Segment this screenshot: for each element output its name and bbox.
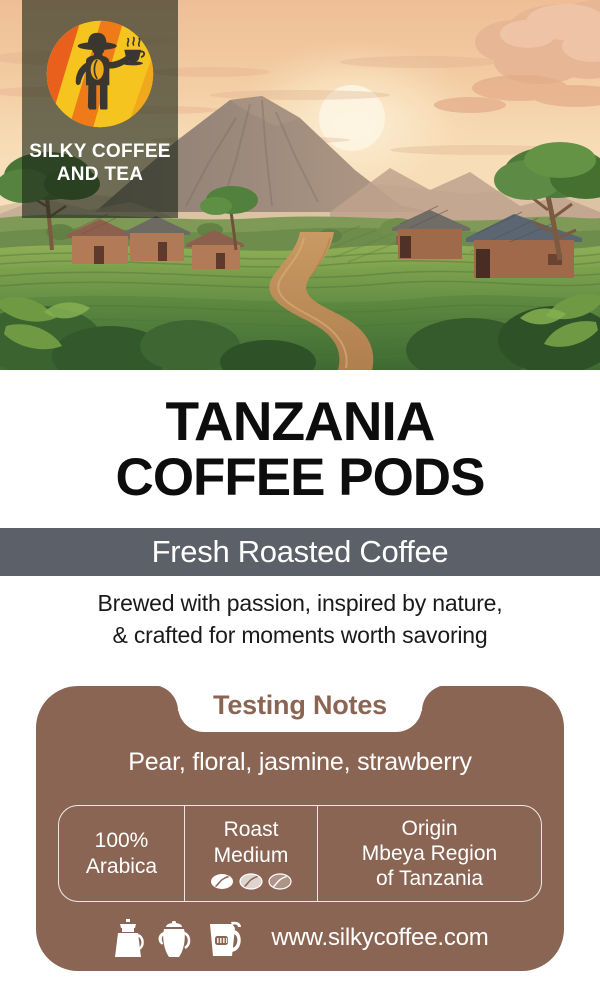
tasting-notes-title: Testing Notes <box>213 690 387 721</box>
brand-logo-line1: SILKY COFFEE <box>29 140 171 163</box>
spec-origin-line2: Mbeya Region <box>362 841 497 866</box>
milk-jug-icon <box>205 920 245 958</box>
freshness-banner-text: Fresh Roasted Coffee <box>152 534 449 570</box>
farmer-with-coffee-cup-icon <box>44 18 156 130</box>
brand-logo-badge: SILKY COFFEE AND TEA <box>22 0 178 218</box>
coffee-bean-icon-full <box>210 873 234 890</box>
tagline: Brewed with passion, inspired by nature,… <box>0 588 600 651</box>
spec-roast-line1: Roast <box>224 817 279 842</box>
spec-column-roast: Roast Medium <box>185 806 318 901</box>
product-title: TANZANIA COFFEE PODS <box>0 370 600 506</box>
coffee-bean-icon-outline <box>268 873 292 890</box>
product-title-line1: TANZANIA <box>0 392 600 450</box>
website-url: www.silkycoffee.com <box>271 924 488 952</box>
tasting-notes-body: Pear, floral, jasmine, strawberry <box>36 748 564 777</box>
spec-arabica-line2: Arabica <box>86 854 157 879</box>
product-title-line2: COFFEE PODS <box>0 450 600 506</box>
spec-column-origin: Origin Mbeya Region of Tanzania <box>318 806 541 901</box>
brand-logo-text: SILKY COFFEE AND TEA <box>29 140 171 186</box>
brand-logo-line2: AND TEA <box>29 163 171 186</box>
spec-arabica-line1: 100% <box>95 828 149 853</box>
roast-level-beans <box>210 873 292 890</box>
spec-origin-line3: of Tanzania <box>376 866 483 891</box>
tasting-notes-panel: Testing Notes Pear, floral, jasmine, str… <box>36 686 564 971</box>
spec-box: 100% Arabica Roast Medium <box>58 805 542 902</box>
teapot-icon <box>157 920 193 958</box>
tagline-line1: Brewed with passion, inspired by nature, <box>0 588 600 620</box>
brew-method-icons <box>111 918 245 958</box>
tagline-line2: & crafted for moments worth savoring <box>0 620 600 652</box>
coffee-bean-icon-partial <box>239 873 263 890</box>
moka-pot-icon <box>111 918 145 958</box>
spec-column-arabica: 100% Arabica <box>59 806 185 901</box>
spec-roast-line2: Medium <box>214 843 289 868</box>
freshness-banner: Fresh Roasted Coffee <box>0 528 600 576</box>
spec-origin-line1: Origin <box>401 816 457 841</box>
panel-footer: www.silkycoffee.com <box>36 918 564 958</box>
